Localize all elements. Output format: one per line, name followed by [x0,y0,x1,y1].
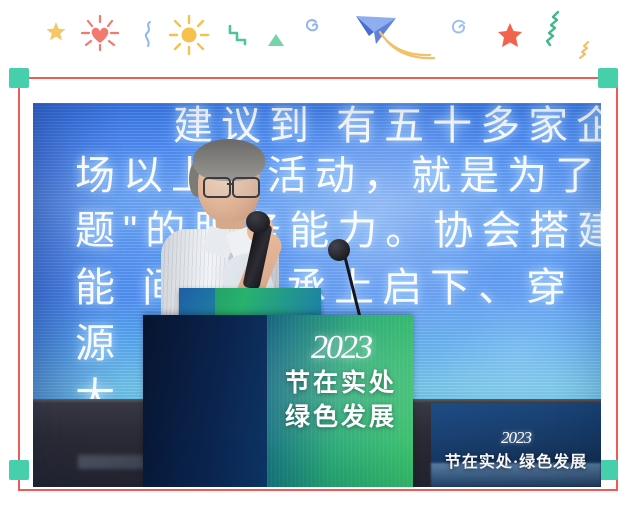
right-banner-slogan: 节在实处·绿色发展 [445,448,587,472]
eyeglasses-icon [203,177,231,198]
decorative-doodle-band [0,0,635,78]
triangle-icon [266,32,286,48]
gooseneck-microphone-icon [328,239,350,261]
star-icon [496,22,524,50]
right-event-banner: 2023 节在实处·绿色发展 [431,427,601,473]
frame-corner-bottom-left [9,460,29,480]
podium-slogan-line-2: 绿色发展 [285,403,397,433]
screenshot-root: 建议到 有五十多家企 场以上的活动，就是为了整合 题"的服务能力。协会搭建的节 … [0,0,635,509]
podium-slogan-line-1: 节在实处 [285,369,397,399]
podium-logo-script: 2023 [311,331,371,365]
star-icon [44,20,68,44]
zigzag-icon [568,40,592,62]
led-text-line-2: 场以上的活动，就是为了整合 [75,143,601,201]
heart-with-rays-icon [78,12,122,56]
podium-event-logo: 2023 节在实处 绿色发展 [271,331,411,481]
squiggle-icon [142,20,156,48]
frame-line-top [18,77,618,79]
frame-corner-top-left [9,68,29,88]
speaker-hair [193,139,265,181]
frame-corner-bottom-right [598,460,618,480]
zigzag-icon [534,10,562,48]
spiral-icon [448,16,472,42]
frame-corner-top-right [598,68,618,88]
podium-front-panel-shadow [143,315,267,487]
frame-line-right [616,77,618,491]
frame-line-left [18,77,20,491]
conference-speaker-photo: 建议到 有五十多家企 场以上的活动，就是为了整合 题"的服务能力。协会搭建的节 … [33,103,601,487]
eyeglasses-bridge [227,183,232,185]
zigzag-icon [228,24,254,46]
frame-line-bottom [18,489,618,491]
spiral-icon [302,16,324,40]
right-banner-script: 2023 [501,429,531,446]
eyeglasses-icon [232,177,260,198]
led-text-line-4: 能 间发挥承上启下、穿 [75,255,574,313]
plane-trail-icon [378,30,438,62]
sun-icon [168,14,210,56]
